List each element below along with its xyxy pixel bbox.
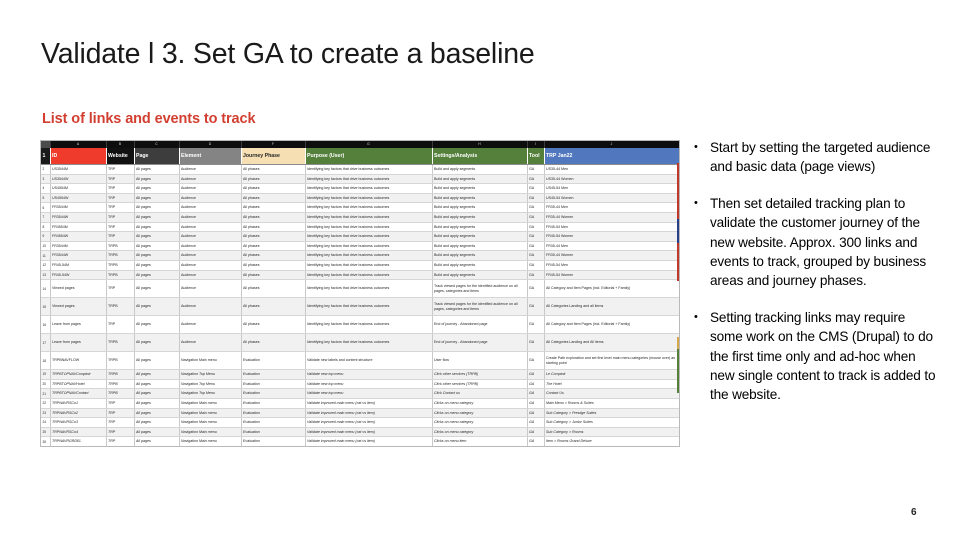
cell-journey-phase[interactable]: Evaluation xyxy=(241,389,305,399)
cell-page[interactable]: All pages xyxy=(134,427,179,437)
cell-purpose[interactable]: Identifying key factors that drive busin… xyxy=(305,165,432,175)
cell-tool[interactable]: GA xyxy=(527,418,544,428)
cell-purpose[interactable]: Identifying key factors that drive busin… xyxy=(305,316,432,334)
cell-element[interactable]: Audience xyxy=(179,174,241,184)
cell-website[interactable]: TRP xyxy=(106,437,134,447)
cell-settings-analysis[interactable]: Track viewed pages for the identified au… xyxy=(432,298,527,316)
cell-tool[interactable]: GA xyxy=(527,212,544,222)
row-number-25[interactable]: 25 xyxy=(41,427,50,437)
cell-settings-analysis[interactable]: Clicks on menu category xyxy=(432,427,527,437)
cell-page[interactable]: All pages xyxy=(134,280,179,298)
cell-trp-jan22[interactable]: Sub Category > Junior Suites xyxy=(544,418,679,428)
cell-settings-analysis[interactable]: Build and apply segments xyxy=(432,241,527,251)
cell-tool[interactable]: GA xyxy=(527,174,544,184)
cell-element[interactable]: Navigation Main menu xyxy=(179,446,241,447)
cell-tool[interactable]: GA xyxy=(527,427,544,437)
cell-purpose[interactable]: Identifying key factors that drive busin… xyxy=(305,184,432,194)
cell-settings-analysis[interactable]: Build and apply segments xyxy=(432,174,527,184)
cell-journey-phase[interactable]: All phases xyxy=(241,316,305,334)
row-number-9[interactable]: 9 xyxy=(41,232,50,242)
cell-id[interactable]: TRPBNAVFLOW xyxy=(50,352,106,370)
row-number-16[interactable]: 16 xyxy=(41,316,50,334)
table-row[interactable]: 16Leave from pagesTRPAll pagesAudienceAl… xyxy=(41,316,679,334)
cell-website[interactable]: TRP xyxy=(106,232,134,242)
cell-tool[interactable]: GA xyxy=(527,193,544,203)
cell-page[interactable]: All pages xyxy=(134,370,179,380)
cell-purpose[interactable]: Identifying key factors that drive busin… xyxy=(305,241,432,251)
cell-element[interactable]: Audience xyxy=(179,241,241,251)
cell-element[interactable]: Audience xyxy=(179,260,241,270)
cell-tool[interactable]: GA xyxy=(527,251,544,261)
table-row[interactable]: 21TRPBTOPNAVContactTRPBAll pagesNavigati… xyxy=(41,389,679,399)
cell-purpose[interactable]: Validate new labels and content structur… xyxy=(305,352,432,370)
cell-element[interactable]: Audience xyxy=(179,270,241,280)
cell-page[interactable]: All pages xyxy=(134,222,179,232)
column-letter-c[interactable]: C xyxy=(134,141,179,148)
table-row[interactable]: 13FR45-54WTRPBAll pagesAudienceAll phase… xyxy=(41,270,679,280)
cell-website[interactable]: TRP xyxy=(106,408,134,418)
cell-trp-jan22[interactable]: Sub Category > Rooms xyxy=(544,427,679,437)
cell-element[interactable]: Audience xyxy=(179,280,241,298)
cell-page[interactable]: All pages xyxy=(134,379,179,389)
cell-id[interactable]: FR3544M xyxy=(50,241,106,251)
row-number-18[interactable]: 18 xyxy=(41,352,50,370)
cell-trp-jan22[interactable]: FR35-44 Women xyxy=(544,212,679,222)
cell-website[interactable]: TRP xyxy=(106,418,134,428)
cell-page[interactable]: All pages xyxy=(134,174,179,184)
cell-tool[interactable]: GA xyxy=(527,379,544,389)
cell-journey-phase[interactable]: All phases xyxy=(241,222,305,232)
cell-trp-jan22[interactable]: US45-54 Men xyxy=(544,184,679,194)
cell-website[interactable]: TRP xyxy=(106,184,134,194)
row-number-20[interactable]: 20 xyxy=(41,379,50,389)
cell-page[interactable]: All pages xyxy=(134,241,179,251)
cell-settings-analysis[interactable]: Build and apply segments xyxy=(432,184,527,194)
row-number-13[interactable]: 13 xyxy=(41,270,50,280)
cell-page[interactable]: All pages xyxy=(134,408,179,418)
cell-settings-analysis[interactable]: Click Contact us xyxy=(432,389,527,399)
cell-purpose[interactable]: Identifying key factors that drive busin… xyxy=(305,203,432,213)
cell-trp-jan22[interactable]: US35-44 Women xyxy=(544,174,679,184)
cell-id[interactable]: US4554W xyxy=(50,193,106,203)
cell-id[interactable]: TRPNAVRGRDEL xyxy=(50,437,106,447)
bullet-text: Setting tracking links may require some … xyxy=(710,308,940,405)
cell-element[interactable]: Navigation Main menu xyxy=(179,427,241,437)
cell-id[interactable]: FR45-54M xyxy=(50,260,106,270)
cell-purpose[interactable]: Identifying key factors that drive busin… xyxy=(305,260,432,270)
column-letter-a[interactable]: A xyxy=(50,141,106,148)
cell-journey-phase[interactable]: All phases xyxy=(241,241,305,251)
cell-settings-analysis[interactable]: Click other services (TRPB) xyxy=(432,379,527,389)
cell-page[interactable]: All pages xyxy=(134,352,179,370)
cell-settings-analysis[interactable]: Build and apply segments xyxy=(432,260,527,270)
cell-settings-analysis[interactable]: Build and apply segments xyxy=(432,165,527,175)
cell-journey-phase[interactable]: All phases xyxy=(241,184,305,194)
cell-id[interactable]: TRPBTOPNAVContact xyxy=(50,389,106,399)
cell-element[interactable]: Navigation Top Menu xyxy=(179,379,241,389)
cell-id[interactable]: Leave from pages xyxy=(50,316,106,334)
table-row[interactable]: 10FR3544MTRPBAll pagesAudienceAll phases… xyxy=(41,241,679,251)
cell-journey-phase[interactable]: All phases xyxy=(241,334,305,352)
cell-trp-jan22[interactable]: FR45-54 Women xyxy=(544,232,679,242)
row-number-10[interactable]: 10 xyxy=(41,241,50,251)
table-row[interactable]: 15Viewed pagesTRPBAll pagesAudienceAll p… xyxy=(41,298,679,316)
cell-page[interactable]: All pages xyxy=(134,165,179,175)
cell-trp-jan22[interactable]: FR35-44 Men xyxy=(544,203,679,213)
table-row[interactable]: 26TRPNAVRGRDELTRPAll pagesNavigation Mai… xyxy=(41,437,679,447)
column-letter-h[interactable]: H xyxy=(432,141,527,148)
header-journey-phase: Journey Phase xyxy=(241,148,305,165)
cell-id[interactable]: TRPBTOPNAVComptoir xyxy=(50,370,106,380)
table-row[interactable]: 11FR3544WTRPBAll pagesAudienceAll phases… xyxy=(41,251,679,261)
cell-website[interactable]: TRPB xyxy=(106,370,134,380)
cell-website[interactable]: TRPB xyxy=(106,379,134,389)
cell-website[interactable]: TRP xyxy=(106,193,134,203)
cell-element[interactable]: Navigation Main menu xyxy=(179,352,241,370)
row-number-6[interactable]: 6 xyxy=(41,203,50,213)
cell-journey-phase[interactable]: All phases xyxy=(241,203,305,213)
cell-website[interactable]: TRP xyxy=(106,165,134,175)
cell-element[interactable]: Navigation Main menu xyxy=(179,398,241,408)
cell-purpose[interactable]: Identifying key factors that drive busin… xyxy=(305,251,432,261)
cell-website[interactable]: TRP xyxy=(106,174,134,184)
column-letter-j[interactable]: J xyxy=(544,141,679,148)
cell-tool[interactable]: GA xyxy=(527,165,544,175)
row-number-23[interactable]: 23 xyxy=(41,408,50,418)
table-row[interactable]: 5US4554WTRPAll pagesAudienceAll phasesId… xyxy=(41,193,679,203)
row-number-15[interactable]: 15 xyxy=(41,298,50,316)
column-letter-g[interactable]: G xyxy=(305,141,432,148)
cell-tool[interactable]: GA xyxy=(527,446,544,447)
cell-tool[interactable]: GA xyxy=(527,334,544,352)
cell-page[interactable]: All pages xyxy=(134,193,179,203)
cell-website[interactable]: TRPB xyxy=(106,270,134,280)
cell-website[interactable]: TRPB xyxy=(106,260,134,270)
cell-trp-jan22[interactable]: All Category and Item Pages (incl. Edito… xyxy=(544,280,679,298)
cell-website[interactable]: TRPB xyxy=(106,241,134,251)
cell-id[interactable]: FR4554W xyxy=(50,232,106,242)
cell-purpose[interactable]: Identifying key factors that drive busin… xyxy=(305,280,432,298)
cell-purpose[interactable]: Identifying key factors that drive busin… xyxy=(305,232,432,242)
cell-trp-jan22[interactable]: Main Menu > Rooms & Suites xyxy=(544,398,679,408)
cell-element[interactable]: Audience xyxy=(179,165,241,175)
cell-settings-analysis[interactable]: Clicks on menu item xyxy=(432,446,527,447)
row-number-17[interactable]: 17 xyxy=(41,334,50,352)
cell-page[interactable]: All pages xyxy=(134,316,179,334)
cell-purpose[interactable]: Validate improved main menu (cat vs item… xyxy=(305,418,432,428)
cell-website[interactable]: TRP xyxy=(106,212,134,222)
cell-id[interactable]: FR3544W xyxy=(50,212,106,222)
table-row[interactable]: 9FR4554WTRPAll pagesAudienceAll phasesId… xyxy=(41,232,679,242)
cell-settings-analysis[interactable]: Build and apply segments xyxy=(432,222,527,232)
column-letter-d[interactable]: D xyxy=(179,141,241,148)
cell-page[interactable]: All pages xyxy=(134,334,179,352)
row-number-1[interactable]: 1 xyxy=(41,148,50,165)
cell-tool[interactable]: GA xyxy=(527,232,544,242)
cell-element[interactable]: Audience xyxy=(179,193,241,203)
cell-tool[interactable]: GA xyxy=(527,408,544,418)
cell-tool[interactable]: GA xyxy=(527,298,544,316)
cell-website[interactable]: TRPB xyxy=(106,352,134,370)
cell-tool[interactable]: GA xyxy=(527,352,544,370)
cell-element[interactable]: Audience xyxy=(179,334,241,352)
row-number-2[interactable]: 2 xyxy=(41,165,50,175)
table-row[interactable]: 7FR3544WTRPAll pagesAudienceAll phasesId… xyxy=(41,212,679,222)
row-number-7[interactable]: 7 xyxy=(41,212,50,222)
cell-trp-jan22[interactable]: FR35-44 Women xyxy=(544,251,679,261)
cell-id[interactable]: Viewed pages xyxy=(50,280,106,298)
cell-trp-jan22[interactable]: Item > Rooms Deluxe xyxy=(544,446,679,447)
cell-journey-phase[interactable]: All phases xyxy=(241,251,305,261)
row-number-27[interactable]: 27 xyxy=(41,446,50,447)
cell-website[interactable]: TRP xyxy=(106,316,134,334)
cell-element[interactable]: Navigation Top Menu xyxy=(179,370,241,380)
cell-purpose[interactable]: Validate improved main menu (cat vs item… xyxy=(305,427,432,437)
cell-settings-analysis[interactable]: Click other services (TRPB) xyxy=(432,370,527,380)
cell-journey-phase[interactable]: Evaluation xyxy=(241,427,305,437)
cell-tool[interactable]: GA xyxy=(527,437,544,447)
cell-journey-phase[interactable]: Evaluation xyxy=(241,398,305,408)
cell-journey-phase[interactable]: All phases xyxy=(241,232,305,242)
table-row[interactable]: 24TRPNAVRSCo3TRPAll pagesNavigation Main… xyxy=(41,418,679,428)
cell-page[interactable]: All pages xyxy=(134,446,179,447)
cell-id[interactable]: TRPBTOPNAVHotel xyxy=(50,379,106,389)
table-row[interactable]: 4US4554MTRPAll pagesAudienceAll phasesId… xyxy=(41,184,679,194)
cell-id[interactable]: FR3544M xyxy=(50,203,106,213)
cell-purpose[interactable]: Identifying key factors that drive busin… xyxy=(305,174,432,184)
row-number-3[interactable]: 3 xyxy=(41,174,50,184)
cell-settings-analysis[interactable]: Build and apply segments xyxy=(432,270,527,280)
cell-journey-phase[interactable]: Evaluation xyxy=(241,418,305,428)
cell-settings-analysis[interactable]: Track viewed pages for the identified au… xyxy=(432,280,527,298)
cell-page[interactable]: All pages xyxy=(134,437,179,447)
cell-element[interactable]: Audience xyxy=(179,184,241,194)
cell-id[interactable]: US3544M xyxy=(50,165,106,175)
cell-id[interactable]: Leave from pages xyxy=(50,334,106,352)
cell-page[interactable]: All pages xyxy=(134,212,179,222)
cell-trp-jan22[interactable]: US45-54 Women xyxy=(544,193,679,203)
cell-journey-phase[interactable]: Evaluation xyxy=(241,408,305,418)
cell-journey-phase[interactable]: Evaluation xyxy=(241,437,305,447)
cell-journey-phase[interactable]: Evaluation xyxy=(241,379,305,389)
cell-element[interactable]: Audience xyxy=(179,232,241,242)
cell-element[interactable]: Audience xyxy=(179,222,241,232)
row-number-26[interactable]: 26 xyxy=(41,437,50,447)
cell-journey-phase[interactable]: All phases xyxy=(241,260,305,270)
column-letter-f[interactable]: F xyxy=(241,141,305,148)
cell-page[interactable]: All pages xyxy=(134,389,179,399)
cell-element[interactable]: Audience xyxy=(179,298,241,316)
cell-tool[interactable]: GA xyxy=(527,270,544,280)
table-row[interactable]: 20TRPBTOPNAVHotelTRPBAll pagesNavigation… xyxy=(41,379,679,389)
cell-settings-analysis[interactable]: User flow xyxy=(432,352,527,370)
cell-journey-phase[interactable]: All phases xyxy=(241,174,305,184)
cell-website[interactable]: TRPB xyxy=(106,298,134,316)
cell-tool[interactable]: GA xyxy=(527,184,544,194)
cell-tool[interactable]: GA xyxy=(527,370,544,380)
cell-website[interactable]: TRPB xyxy=(106,334,134,352)
cell-element[interactable]: Navigation Top Menu xyxy=(179,389,241,399)
cell-page[interactable]: All pages xyxy=(134,203,179,213)
cell-trp-jan22[interactable]: Item > Rooms Grand Deluxe xyxy=(544,437,679,447)
cell-purpose[interactable]: Identifying key factors that drive busin… xyxy=(305,298,432,316)
cell-trp-jan22[interactable]: FR35-44 Men xyxy=(544,241,679,251)
cell-website[interactable]: TRP xyxy=(106,427,134,437)
cell-settings-analysis[interactable]: Clicks on menu category xyxy=(432,408,527,418)
cell-purpose[interactable]: Identifying key factors that drive busin… xyxy=(305,212,432,222)
cell-id[interactable]: TRPNAVRSCo2 xyxy=(50,408,106,418)
cell-settings-analysis[interactable]: Clicks on menu item xyxy=(432,437,527,447)
cell-tool[interactable]: GA xyxy=(527,389,544,399)
table-row[interactable]: 6FR3544MTRPAll pagesAudienceAll phasesId… xyxy=(41,203,679,213)
cell-page[interactable]: All pages xyxy=(134,298,179,316)
cell-purpose[interactable]: Identifying key factors that drive busin… xyxy=(305,222,432,232)
row-number-21[interactable]: 21 xyxy=(41,389,50,399)
cell-tool[interactable]: GA xyxy=(527,260,544,270)
cell-website[interactable]: TRP xyxy=(106,222,134,232)
cell-element[interactable]: Navigation Main menu xyxy=(179,437,241,447)
table-row[interactable]: 14Viewed pagesTRPAll pagesAudienceAll ph… xyxy=(41,280,679,298)
cell-trp-jan22[interactable]: Create Path exploration and set first le… xyxy=(544,352,679,370)
cell-page[interactable]: All pages xyxy=(134,398,179,408)
cell-trp-jan22[interactable]: Sub Category > Prestige Suites xyxy=(544,408,679,418)
row-number-11[interactable]: 11 xyxy=(41,251,50,261)
table-row[interactable]: 27TRPNAVRDELTRPAll pagesNavigation Main … xyxy=(41,446,679,447)
cell-journey-phase[interactable]: All phases xyxy=(241,298,305,316)
cell-purpose[interactable]: Validate improved main menu (cat vs item… xyxy=(305,446,432,447)
cell-purpose[interactable]: Validate improved main menu (cat vs item… xyxy=(305,408,432,418)
cell-id[interactable]: TRPNAVRSCo4 xyxy=(50,427,106,437)
cell-trp-jan22[interactable]: All Categories Landing and all items xyxy=(544,298,679,316)
cell-id[interactable]: FR45-54W xyxy=(50,270,106,280)
cell-tool[interactable]: GA xyxy=(527,241,544,251)
cell-settings-analysis[interactable]: Clicks on menu category xyxy=(432,398,527,408)
cell-settings-analysis[interactable]: Clicks on menu category xyxy=(432,418,527,428)
cell-purpose[interactable]: Validate new top menu xyxy=(305,389,432,399)
cell-trp-jan22[interactable]: FR45-54 Women xyxy=(544,270,679,280)
cell-purpose[interactable]: Validate new top menu xyxy=(305,379,432,389)
cell-purpose[interactable]: Identifying key factors that drive busin… xyxy=(305,270,432,280)
cell-tool[interactable]: GA xyxy=(527,203,544,213)
cell-id[interactable]: US4554M xyxy=(50,184,106,194)
cell-journey-phase[interactable]: All phases xyxy=(241,280,305,298)
cell-purpose[interactable]: Validate new top menu xyxy=(305,370,432,380)
cell-journey-phase[interactable]: All phases xyxy=(241,270,305,280)
cell-settings-analysis[interactable]: Build and apply segments xyxy=(432,203,527,213)
row-number-5[interactable]: 5 xyxy=(41,193,50,203)
cell-page[interactable]: All pages xyxy=(134,232,179,242)
table-row[interactable]: 17Leave from pagesTRPBAll pagesAudienceA… xyxy=(41,334,679,352)
column-letter-b[interactable]: B xyxy=(106,141,134,148)
cell-page[interactable]: All pages xyxy=(134,184,179,194)
cell-website[interactable]: TRPB xyxy=(106,389,134,399)
table-row[interactable]: 25TRPNAVRSCo4TRPAll pagesNavigation Main… xyxy=(41,427,679,437)
cell-element[interactable]: Audience xyxy=(179,203,241,213)
cell-website[interactable]: TRPB xyxy=(106,251,134,261)
cell-settings-analysis[interactable]: Build and apply segments xyxy=(432,212,527,222)
table-row[interactable]: 2US3544MTRPAll pagesAudienceAll phasesId… xyxy=(41,165,679,175)
cell-element[interactable]: Audience xyxy=(179,251,241,261)
table-row[interactable]: 22TRPNAVRSCo1TRPAll pagesNavigation Main… xyxy=(41,398,679,408)
cell-trp-jan22[interactable]: All Category and Item Pages (incl. Edito… xyxy=(544,316,679,334)
bullet-marker-icon: • xyxy=(694,138,710,177)
cell-trp-jan22[interactable]: US35-44 Men xyxy=(544,165,679,175)
cell-journey-phase[interactable]: All phases xyxy=(241,193,305,203)
cell-id[interactable]: Viewed pages xyxy=(50,298,106,316)
cell-id[interactable]: FR3544W xyxy=(50,251,106,261)
cell-page[interactable]: All pages xyxy=(134,251,179,261)
cell-page[interactable]: All pages xyxy=(134,418,179,428)
row-number-24[interactable]: 24 xyxy=(41,418,50,428)
cell-purpose[interactable]: Identifying key factors that drive busin… xyxy=(305,193,432,203)
cell-website[interactable]: TRP xyxy=(106,398,134,408)
row-number-19[interactable]: 19 xyxy=(41,370,50,380)
row-number-22[interactable]: 22 xyxy=(41,398,50,408)
cell-id[interactable]: TRPNAVRDEL xyxy=(50,446,106,447)
cell-element[interactable]: Audience xyxy=(179,316,241,334)
table-row[interactable]: 19TRPBTOPNAVComptoirTRPBAll pagesNavigat… xyxy=(41,370,679,380)
cell-settings-analysis[interactable]: Build and apply segments xyxy=(432,193,527,203)
cell-element[interactable]: Navigation Main menu xyxy=(179,418,241,428)
table-row[interactable]: 12FR45-54MTRPBAll pagesAudienceAll phase… xyxy=(41,260,679,270)
row-number-12[interactable]: 12 xyxy=(41,260,50,270)
table-row[interactable]: 18TRPBNAVFLOWTRPBAll pagesNavigation Mai… xyxy=(41,352,679,370)
select-all-corner[interactable] xyxy=(41,141,50,148)
cell-website[interactable]: TRP xyxy=(106,446,134,447)
cell-purpose[interactable]: Identifying key factors that drive busin… xyxy=(305,334,432,352)
cell-journey-phase[interactable]: Evaluation xyxy=(241,446,305,447)
cell-trp-jan22[interactable]: FR45-54 Men xyxy=(544,222,679,232)
cell-page[interactable]: All pages xyxy=(134,260,179,270)
cell-journey-phase[interactable]: All phases xyxy=(241,212,305,222)
cell-tool[interactable]: GA xyxy=(527,280,544,298)
cell-settings-analysis[interactable]: End of journey - Abandoned page xyxy=(432,316,527,334)
cell-tool[interactable]: GA xyxy=(527,222,544,232)
cell-trp-jan22[interactable]: FR45-54 Men xyxy=(544,260,679,270)
row-number-8[interactable]: 8 xyxy=(41,222,50,232)
cell-element[interactable]: Navigation Main menu xyxy=(179,408,241,418)
cell-trp-jan22[interactable]: The Hotel xyxy=(544,379,679,389)
cell-settings-analysis[interactable]: Build and apply segments xyxy=(432,251,527,261)
cell-settings-analysis[interactable]: End of journey - Abandoned page xyxy=(432,334,527,352)
cell-id[interactable]: FR4554M xyxy=(50,222,106,232)
cell-id[interactable]: US3544W xyxy=(50,174,106,184)
cell-id[interactable]: TRPNAVRSCo3 xyxy=(50,418,106,428)
cell-purpose[interactable]: Validate improved main menu (cat vs item… xyxy=(305,437,432,447)
cell-journey-phase[interactable]: Evaluation xyxy=(241,370,305,380)
cell-settings-analysis[interactable]: Build and apply segments xyxy=(432,232,527,242)
cell-element[interactable]: Audience xyxy=(179,212,241,222)
cell-journey-phase[interactable]: All phases xyxy=(241,165,305,175)
cell-purpose[interactable]: Validate improved main menu (cat vs item… xyxy=(305,398,432,408)
cell-page[interactable]: All pages xyxy=(134,270,179,280)
cell-website[interactable]: TRP xyxy=(106,280,134,298)
cell-tool[interactable]: GA xyxy=(527,398,544,408)
cell-journey-phase[interactable]: Evaluation xyxy=(241,352,305,370)
row-number-4[interactable]: 4 xyxy=(41,184,50,194)
table-row[interactable]: 23TRPNAVRSCo2TRPAll pagesNavigation Main… xyxy=(41,408,679,418)
column-letter-i[interactable]: I xyxy=(527,141,544,148)
cell-website[interactable]: TRP xyxy=(106,203,134,213)
cell-id[interactable]: TRPNAVRSCo1 xyxy=(50,398,106,408)
row-number-14[interactable]: 14 xyxy=(41,280,50,298)
cell-trp-jan22[interactable]: All Categories Landing and All items xyxy=(544,334,679,352)
cell-trp-jan22[interactable]: Contact Us xyxy=(544,389,679,399)
cell-trp-jan22[interactable]: Le Comptoir xyxy=(544,370,679,380)
cell-tool[interactable]: GA xyxy=(527,316,544,334)
table-row[interactable]: 8FR4554MTRPAll pagesAudienceAll phasesId… xyxy=(41,222,679,232)
table-row[interactable]: 3US3544WTRPAll pagesAudienceAll phasesId… xyxy=(41,174,679,184)
